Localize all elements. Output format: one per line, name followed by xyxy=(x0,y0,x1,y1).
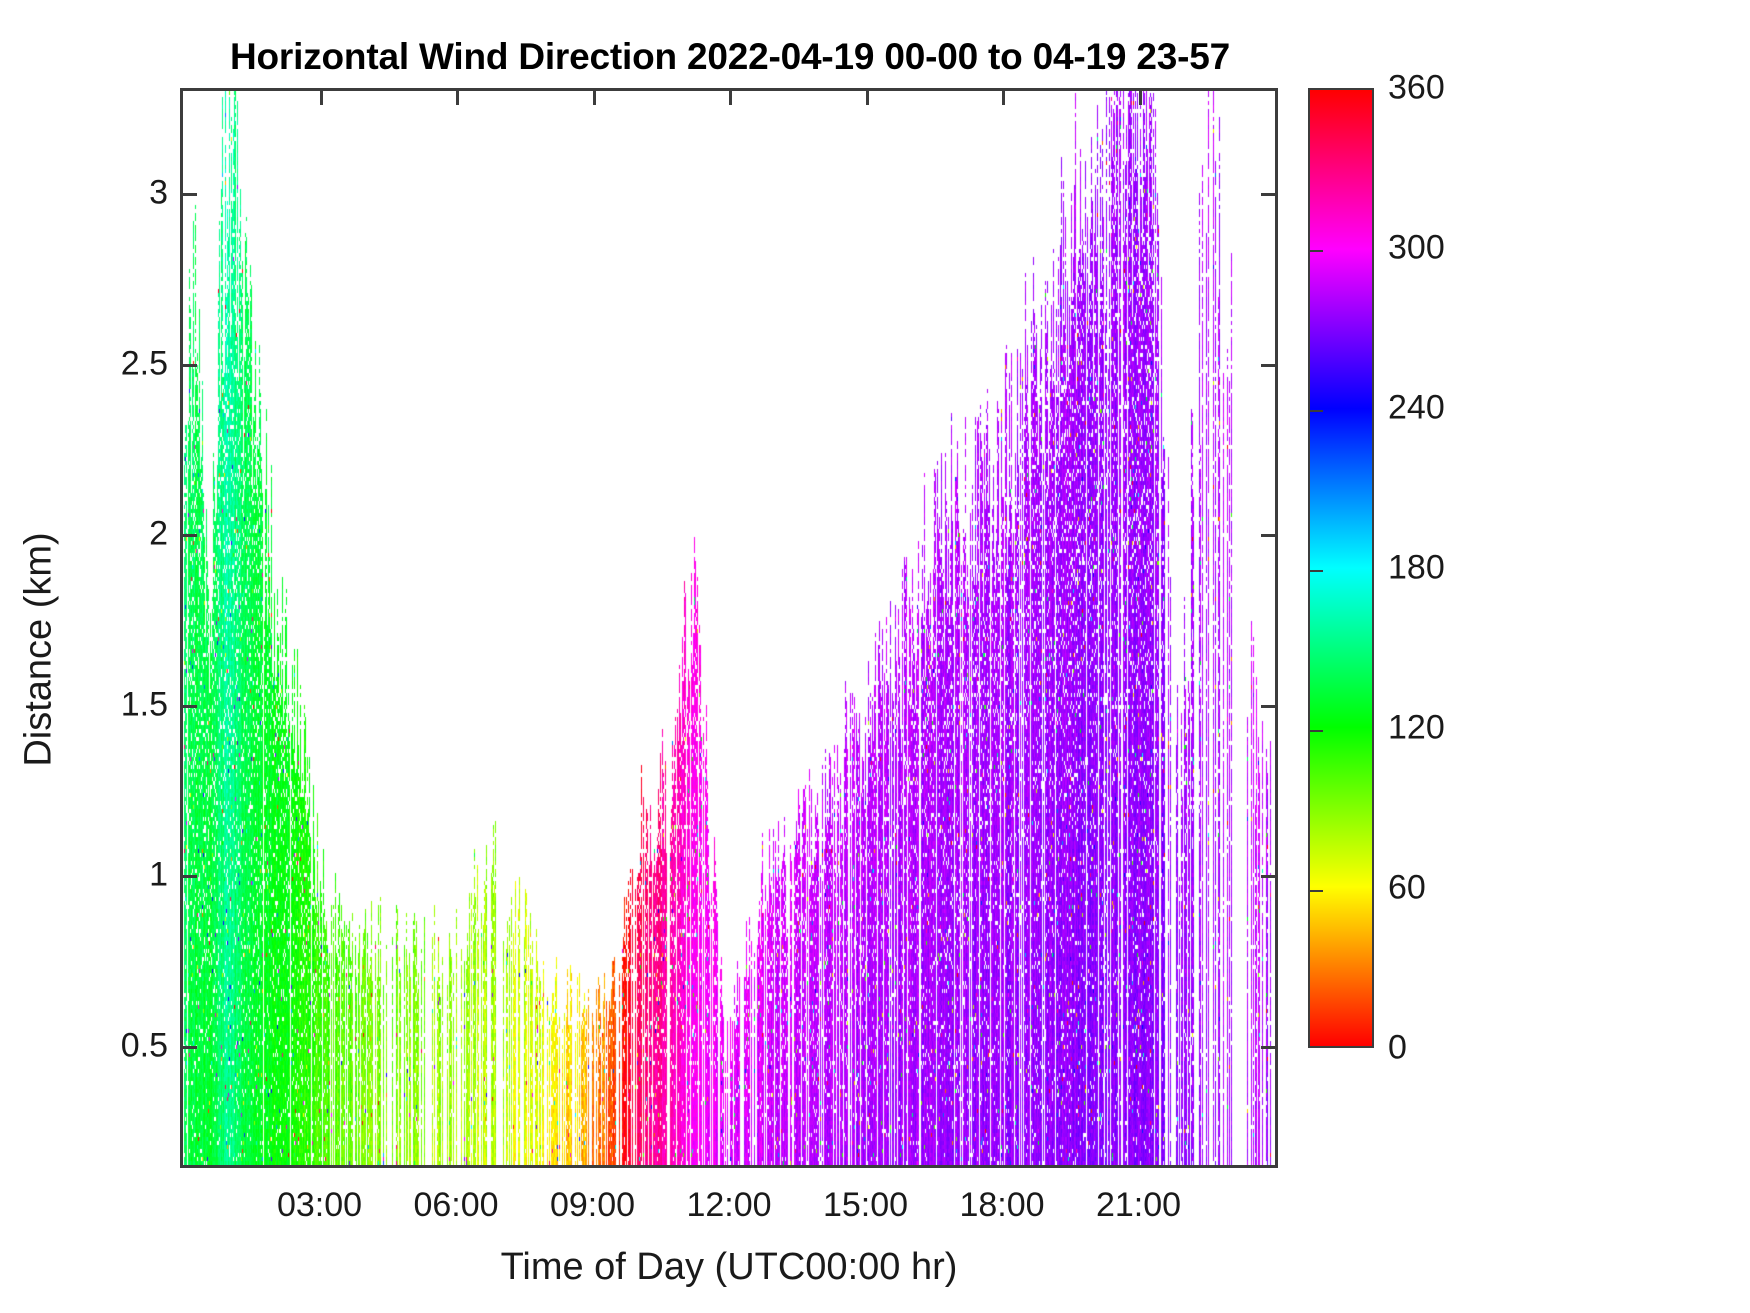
wind-direction-figure: Horizontal Wind Direction 2022-04-19 00-… xyxy=(0,0,1750,1313)
y-tick-mark xyxy=(183,193,197,196)
page-title: Horizontal Wind Direction 2022-04-19 00-… xyxy=(180,36,1280,78)
y-tick-label: 1 xyxy=(48,856,168,895)
colorbar-tick-label: 180 xyxy=(1388,549,1518,588)
x-tick-mark xyxy=(456,91,459,105)
colorbar-tick-label: 120 xyxy=(1388,709,1518,748)
colorbar-tick-mark xyxy=(1310,410,1323,412)
plot-area xyxy=(180,88,1278,1168)
heatmap-canvas xyxy=(183,91,1275,1165)
y-tick-mark xyxy=(183,364,197,367)
colorbar-tick-label: 300 xyxy=(1388,229,1518,268)
colorbar-tick-label: 240 xyxy=(1388,389,1518,428)
y-tick-mark xyxy=(183,875,197,878)
y-tick-label: 2 xyxy=(48,515,168,554)
y-tick-label: 3 xyxy=(48,174,168,213)
y-tick-mark xyxy=(183,705,197,708)
y-tick-label: 2.5 xyxy=(48,344,168,383)
x-tick-mark xyxy=(320,91,323,105)
y-tick-label: 1.5 xyxy=(48,685,168,724)
y-tick-mark xyxy=(183,534,197,537)
y-tick-mark-right xyxy=(1261,1046,1275,1049)
x-tick-mark xyxy=(866,91,869,105)
y-tick-label: 0.5 xyxy=(48,1026,168,1065)
colorbar-gradient xyxy=(1310,90,1372,1046)
colorbar-tick-mark xyxy=(1310,570,1323,572)
x-axis-title: Time of Day (UTC00:00 hr) xyxy=(180,1246,1278,1289)
y-tick-mark-right xyxy=(1261,534,1275,537)
colorbar xyxy=(1308,88,1374,1048)
y-tick-mark-right xyxy=(1261,193,1275,196)
y-tick-mark xyxy=(183,1046,197,1049)
colorbar-tick-mark xyxy=(1310,250,1323,252)
x-tick-mark xyxy=(1139,91,1142,105)
x-tick-label: 21:00 xyxy=(1039,1186,1239,1225)
x-tick-mark xyxy=(593,91,596,105)
colorbar-tick-mark xyxy=(1310,890,1323,892)
colorbar-tick-mark xyxy=(1310,730,1323,732)
y-tick-mark-right xyxy=(1261,705,1275,708)
colorbar-tick-label: 0 xyxy=(1388,1029,1518,1068)
x-tick-mark xyxy=(729,91,732,105)
y-axis-title: Distance (km) xyxy=(18,415,61,885)
y-tick-mark-right xyxy=(1261,364,1275,367)
colorbar-tick-label: 60 xyxy=(1388,869,1518,908)
x-tick-mark xyxy=(1002,91,1005,105)
colorbar-tick-label: 360 xyxy=(1388,69,1518,108)
y-tick-mark-right xyxy=(1261,875,1275,878)
